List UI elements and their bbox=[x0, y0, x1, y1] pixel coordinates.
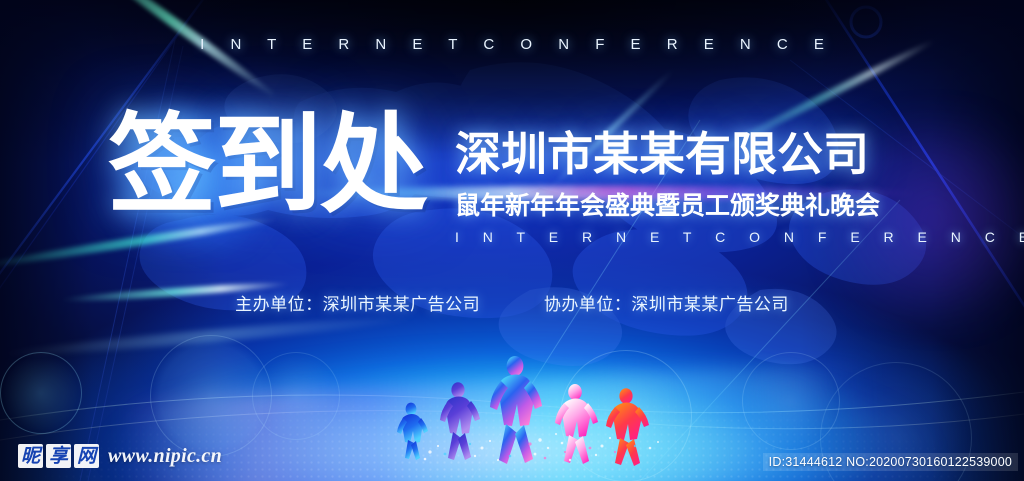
company-name: 深圳市某某有限公司 bbox=[455, 130, 955, 180]
page-title: 签到处 bbox=[108, 112, 426, 220]
organizer-label: 主办单位：深圳市某某广告公司 bbox=[235, 295, 480, 315]
bokeh-circle bbox=[252, 352, 340, 440]
watermark-url: www.nipic.cn bbox=[108, 445, 222, 468]
organizers-row: 主办单位：深圳市某某广告公司 协办单位：深圳市某某广告公司 bbox=[0, 290, 1024, 315]
watermark-logo: 昵 享 网 bbox=[18, 444, 99, 468]
watermark-logo-char-1: 昵 bbox=[18, 444, 43, 468]
top-kicker-text: I N T E R N E T C O N F E R E N C E bbox=[0, 36, 1024, 53]
headline-block: 深圳市某某有限公司 鼠年新年年会盛典暨员工颁奖典礼晚会 I N T E R N … bbox=[455, 130, 955, 245]
bokeh-circle bbox=[0, 352, 82, 434]
runner-silhouettes bbox=[370, 348, 670, 473]
watermark-logo-char-2: 享 bbox=[46, 444, 71, 468]
watermark-logo-char-3: 网 bbox=[74, 444, 99, 468]
co-organizer-label: 协办单位：深圳市某某广告公司 bbox=[544, 295, 789, 315]
conference-poster: I N T E R N E T C O N F E R E N C E 签到处 … bbox=[0, 0, 1024, 481]
sub-kicker-text: I N T E R N E T C O N F E R E N C E bbox=[455, 229, 955, 245]
site-watermark: 昵 享 网 www.nipic.cn bbox=[18, 444, 222, 468]
image-id-code: ID:31444612 NO:20200730160122539000 bbox=[763, 453, 1018, 471]
event-name: 鼠年新年年会盛典暨员工颁奖典礼晚会 bbox=[455, 186, 955, 222]
